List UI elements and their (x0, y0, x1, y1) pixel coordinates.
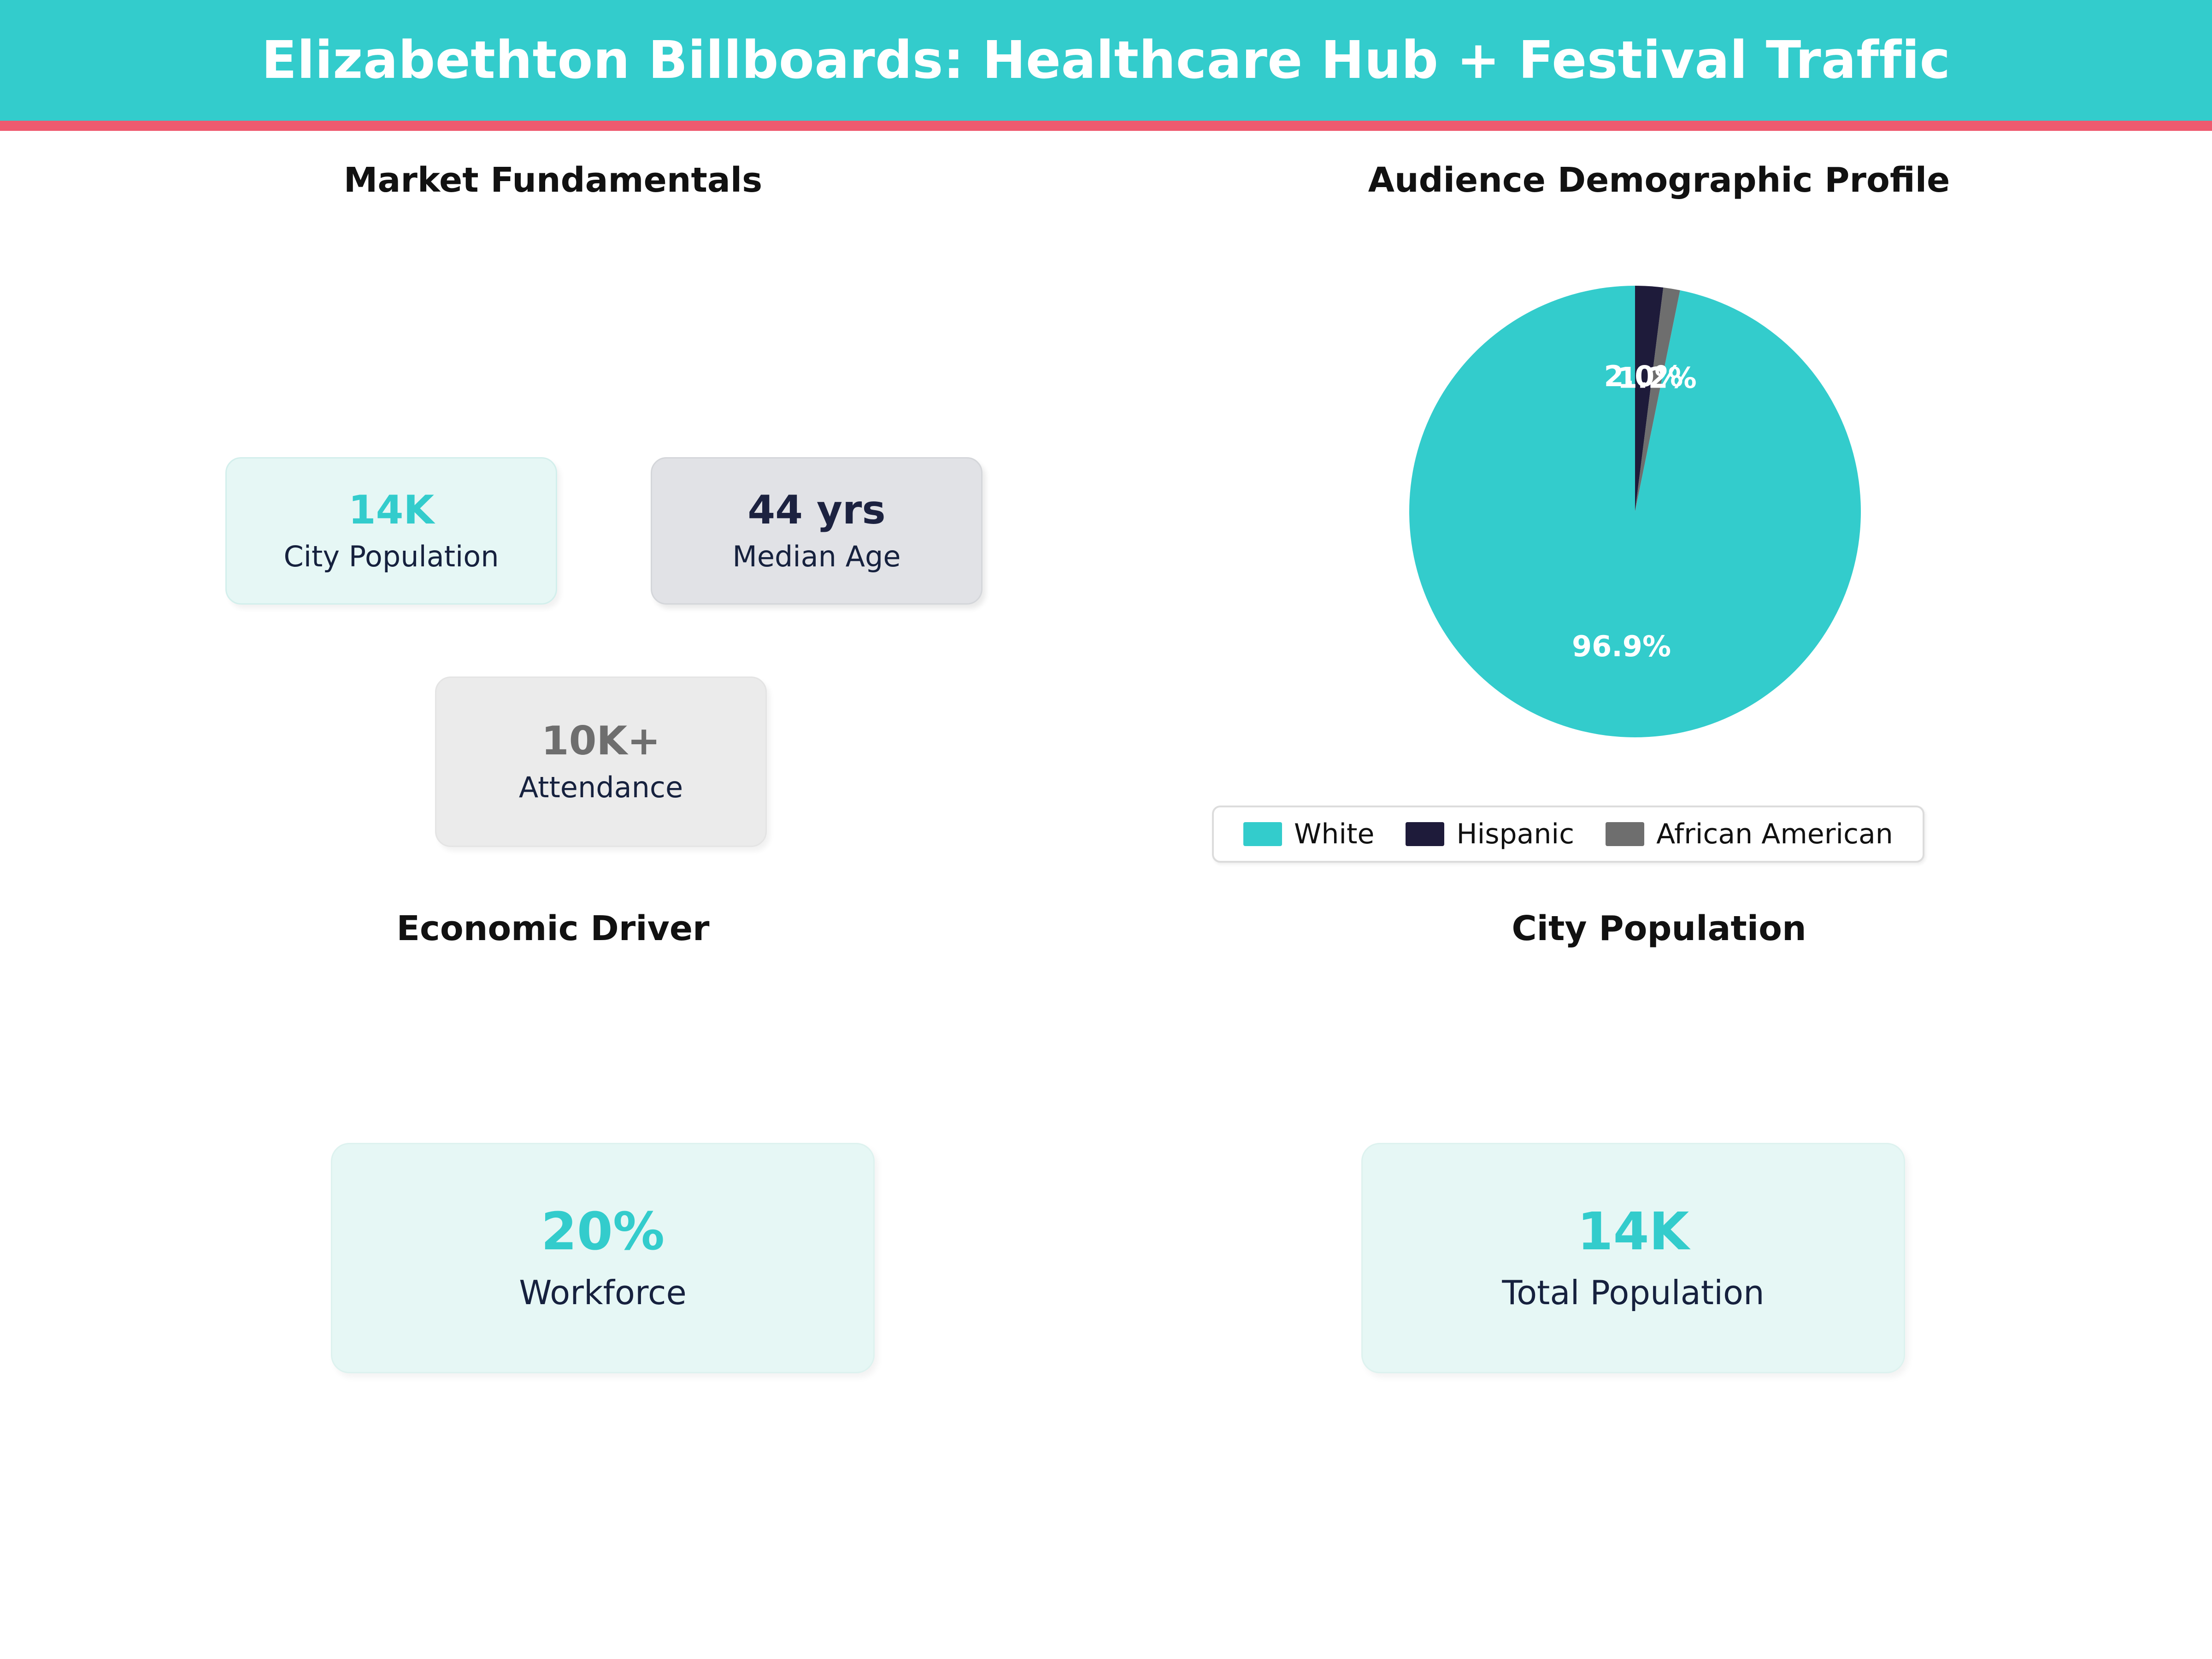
dashboard-header: Elizabethton Billboards: Healthcare Hub … (0, 0, 2212, 131)
kpi-label-workforce: Workforce (519, 1275, 687, 1311)
pie-slice-group (1409, 286, 1861, 737)
legend-item-hispanic[interactable]: Hispanic (1406, 818, 1574, 850)
pie-label-african-american: 1.2% (1618, 361, 1697, 394)
kpi-card-total-population: 14K Total Population (1361, 1143, 1905, 1373)
panel-title-city-population: City Population (1106, 909, 2212, 948)
legend-item-african-american[interactable]: African American (1606, 818, 1893, 850)
legend-swatch-hispanic (1406, 822, 1444, 846)
kpi-value-workforce: 20% (541, 1205, 665, 1259)
pie-legend: White Hispanic African American (1212, 806, 1924, 863)
kpi-card-attendance: 10K+ Attendance (435, 677, 767, 847)
panel-title-audience-demographic-profile: Audience Demographic Profile (1106, 160, 2212, 200)
kpi-label-attendance: Attendance (519, 772, 683, 803)
panel-market-fundamentals: Market Fundamentals 14K City Population … (0, 138, 1106, 876)
demographic-pie-chart: 2.0%1.2%96.9% (1409, 286, 1861, 737)
kpi-card-workforce: 20% Workforce (331, 1143, 875, 1373)
legend-swatch-african-american (1606, 822, 1644, 846)
kpi-label-median-age: Median Age (732, 541, 900, 572)
page-title: Elizabethton Billboards: Healthcare Hub … (0, 0, 2212, 121)
pie-chart-svg: 2.0%1.2%96.9% (1409, 286, 1861, 737)
kpi-value-total-population: 14K (1577, 1205, 1689, 1259)
kpi-value-attendance: 10K+ (541, 720, 660, 762)
panel-title-economic-driver: Economic Driver (0, 909, 1106, 948)
legend-label-hispanic: Hispanic (1456, 818, 1574, 850)
kpi-value-city-population: 14K (348, 489, 434, 531)
kpi-card-median-age: 44 yrs Median Age (651, 457, 982, 605)
legend-item-white[interactable]: White (1243, 818, 1374, 850)
panel-title-market-fundamentals: Market Fundamentals (0, 160, 1106, 200)
legend-swatch-white (1243, 822, 1282, 846)
kpi-value-median-age: 44 yrs (747, 489, 885, 531)
legend-label-african-american: African American (1656, 818, 1893, 850)
pie-label-white: 96.9% (1572, 629, 1671, 663)
kpi-label-total-population: Total Population (1502, 1275, 1764, 1311)
kpi-label-city-population: City Population (284, 541, 499, 572)
kpi-card-city-population: 14K City Population (225, 457, 557, 605)
legend-label-white: White (1294, 818, 1374, 850)
